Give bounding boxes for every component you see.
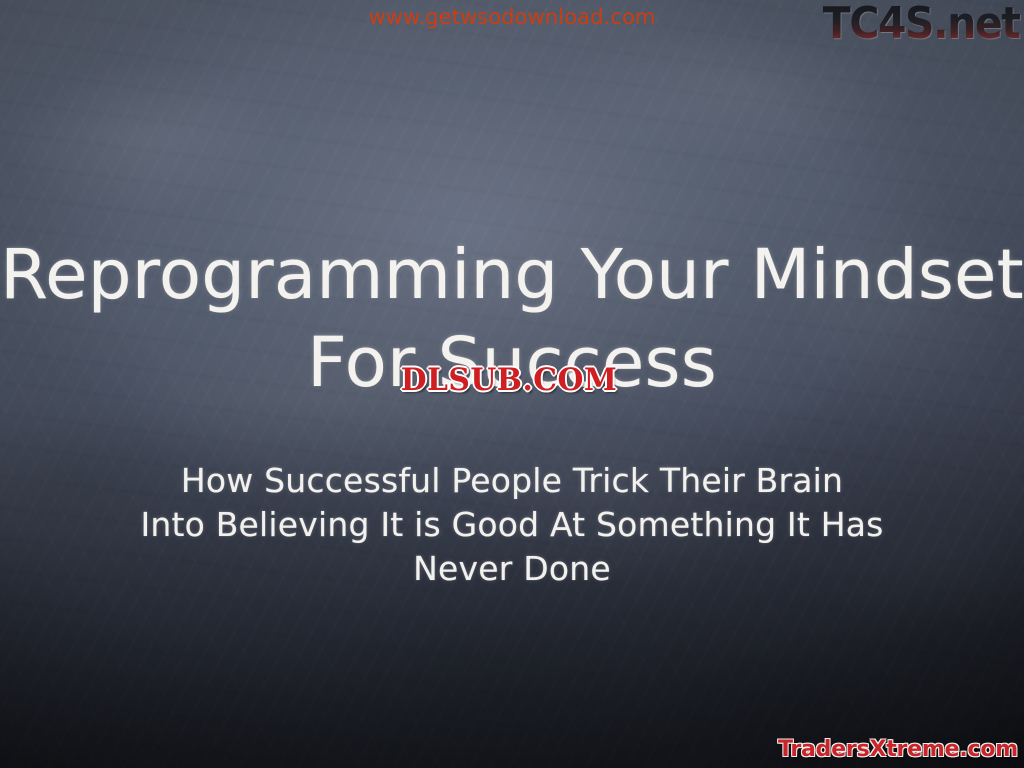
- slide-title-line-1: Reprogramming Your Mindset: [0, 235, 1024, 315]
- watermark-tradersxtreme: TradersXtreme.com: [778, 736, 1018, 763]
- watermark-tc4s-logo: TC4S.net: [823, 0, 1020, 49]
- slide-subtitle-line-2: Into Believing It is Good At Something I…: [0, 503, 1024, 547]
- slide-subtitle-line-1: How Successful People Trick Their Brain: [0, 459, 1024, 503]
- presentation-slide: www.getwsodownload.com TC4S.net Reprogra…: [0, 0, 1024, 768]
- slide-subtitle: How Successful People Trick Their Brain …: [0, 459, 1024, 591]
- watermark-dlsub-logo: DLSUB.COM: [378, 361, 639, 399]
- slide-subtitle-line-3: Never Done: [0, 547, 1024, 591]
